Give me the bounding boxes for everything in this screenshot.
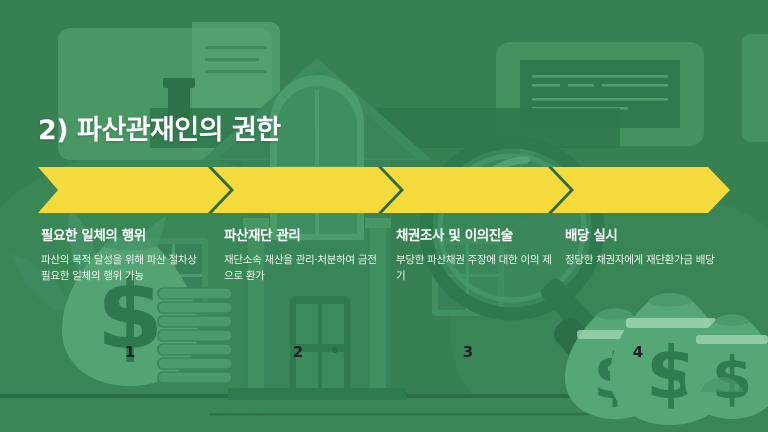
process-ribbon: 1 2 3 4	[0, 167, 768, 213]
step-heading-3: 채권조사 및 이의진술	[396, 228, 554, 244]
step-column-2: 파산재단 관리 재단소속 재산을 관리·처분하여 금전으로 환가	[224, 228, 382, 285]
step-heading-1: 필요한 일체의 행위	[41, 228, 199, 244]
background-illustration: $	[0, 0, 768, 432]
step-heading-4: 배당 실시	[565, 228, 723, 244]
step-body-3: 부당한 파산채권 주장에 대한 이의 제기	[396, 252, 554, 285]
chevron-3	[382, 167, 570, 213]
step-body-2: 재단소속 재산을 관리·처분하여 금전으로 환가	[224, 252, 382, 285]
chevron-2	[212, 167, 400, 213]
step-descriptions: 필요한 일체의 행위 파산의 목적 달성을 위해 파산 절차상 필요한 일체의 …	[0, 228, 768, 348]
step-column-1: 필요한 일체의 행위 파산의 목적 달성을 위해 파산 절차상 필요한 일체의 …	[41, 228, 199, 285]
step-body-1: 파산의 목적 달성을 위해 파산 절차상 필요한 일체의 행위 가능	[41, 252, 199, 285]
step-column-4: 배당 실시 정당한 채권자에게 재단환가금 배당	[565, 228, 723, 268]
step-column-3: 채권조사 및 이의진술 부당한 파산채권 주장에 대한 이의 제기	[396, 228, 554, 285]
page-title: 2) 파산관재인의 권한	[38, 108, 281, 147]
background-art-svg: $	[0, 0, 768, 432]
process-ribbon-svg	[0, 167, 768, 213]
chevron-1	[38, 167, 230, 213]
slide-root: $	[0, 0, 768, 432]
chevron-4	[552, 167, 730, 213]
step-body-4: 정당한 채권자에게 재단환가금 배당	[565, 252, 723, 268]
document-panel-edge	[742, 34, 768, 142]
step-heading-2: 파산재단 관리	[224, 228, 382, 244]
